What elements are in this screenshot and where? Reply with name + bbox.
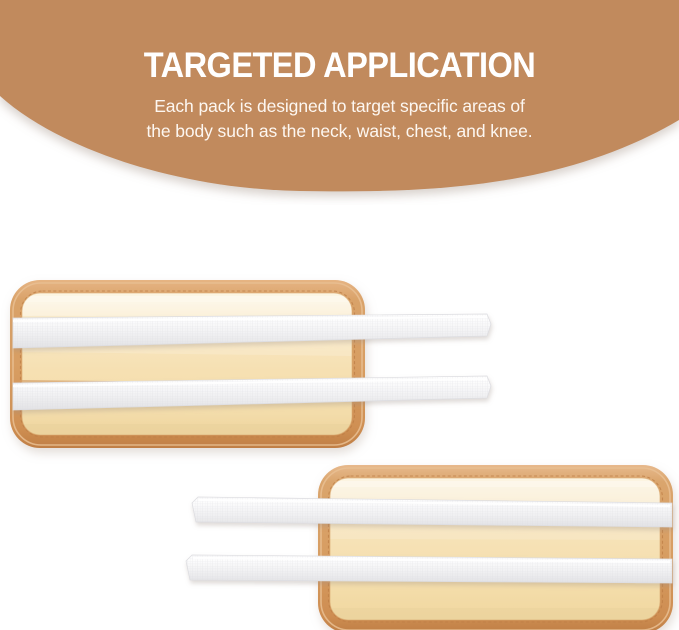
ice-pack-top xyxy=(10,280,491,448)
hero-subtitle: Each pack is designed to target specific… xyxy=(0,83,679,144)
pack-bottom-strap-lower xyxy=(186,555,672,583)
hero-text-block: TARGETED APPLICATION Each pack is design… xyxy=(0,0,679,144)
ice-pack-bottom xyxy=(186,465,673,630)
hero-subtitle-line-1: Each pack is designed to target specific… xyxy=(0,94,679,119)
product-infographic: TARGETED APPLICATION Each pack is design… xyxy=(0,0,679,630)
hero-subtitle-line-2: the body such as the neck, waist, chest,… xyxy=(0,119,679,144)
hero-banner: TARGETED APPLICATION Each pack is design… xyxy=(0,0,679,200)
pack-top-gel-pad xyxy=(22,293,352,435)
page-title: TARGETED APPLICATION xyxy=(24,0,655,83)
